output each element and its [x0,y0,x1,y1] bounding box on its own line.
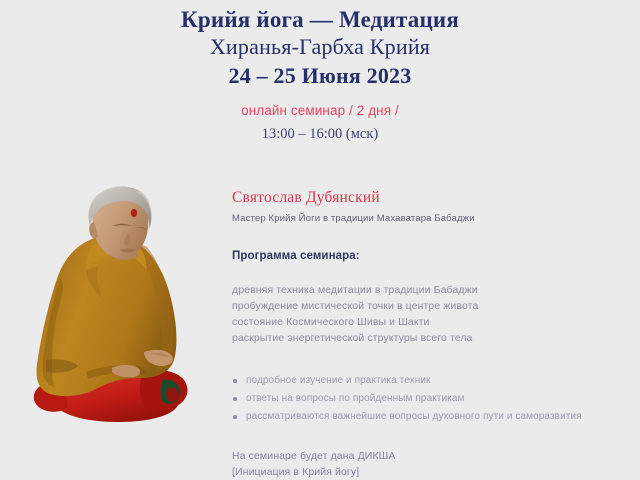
program-line: состояние Космического Шивы и Шакти [232,314,632,330]
speaker-name: Святослав Дубянский [232,188,632,208]
list-item-label: подробное изучение и практика техник [246,375,431,386]
bullet-dot-icon [233,415,237,419]
list-item: рассматриваются важнейшие вопросы духовн… [232,408,632,426]
time-line: 13:00 – 16:00 (мск) [0,124,640,144]
program-bullet-list: подробное изучение и практика техник отв… [232,372,632,426]
program-heading: Программа семинара: [232,248,632,264]
poster-content: Святослав Дубянский Мастер Крийя Йоги в … [232,188,632,480]
title-line-3-date: 24 – 25 Июня 2023 [0,61,640,91]
meditating-teacher-photo [16,182,212,427]
list-item: ответы на вопросы по пройденным практика… [232,390,632,408]
program-description-list: древняя техника медитации в традиции Баб… [232,282,632,346]
footer-line-2: [Инициация в Крийя йогу] [232,464,632,480]
title-line-1: Крийя йога — Медитация [0,6,640,33]
program-line: древняя техника медитации в традиции Баб… [232,282,632,298]
speaker-role: Мастер Крийя Йоги в традиции Махаватара … [232,212,632,226]
seminar-poster: Крийя йога — Медитация Хиранья-Гарбха Кр… [0,0,640,459]
bullet-dot-icon [233,397,237,401]
program-line: раскрытие энергетической структуры всего… [232,330,632,346]
bullet-dot-icon [233,379,237,383]
list-item-label: рассматриваются важнейшие вопросы духовн… [246,411,582,422]
program-line: пробуждение мистической точки в центре ж… [232,298,632,314]
list-item: подробное изучение и практика техник [232,372,632,390]
footer-note: На семинаре будет дана ДИКША [Инициация … [232,448,632,480]
list-item-label: ответы на вопросы по пройденным практика… [246,393,465,404]
footer-line-1: На семинаре будет дана ДИКША [232,448,632,464]
format-line: онлайн семинар / 2 дня / [0,101,640,121]
title-line-2: Хиранья-Гарбха Крийя [0,33,640,61]
poster-header: Крийя йога — Медитация Хиранья-Гарбха Кр… [0,6,640,144]
